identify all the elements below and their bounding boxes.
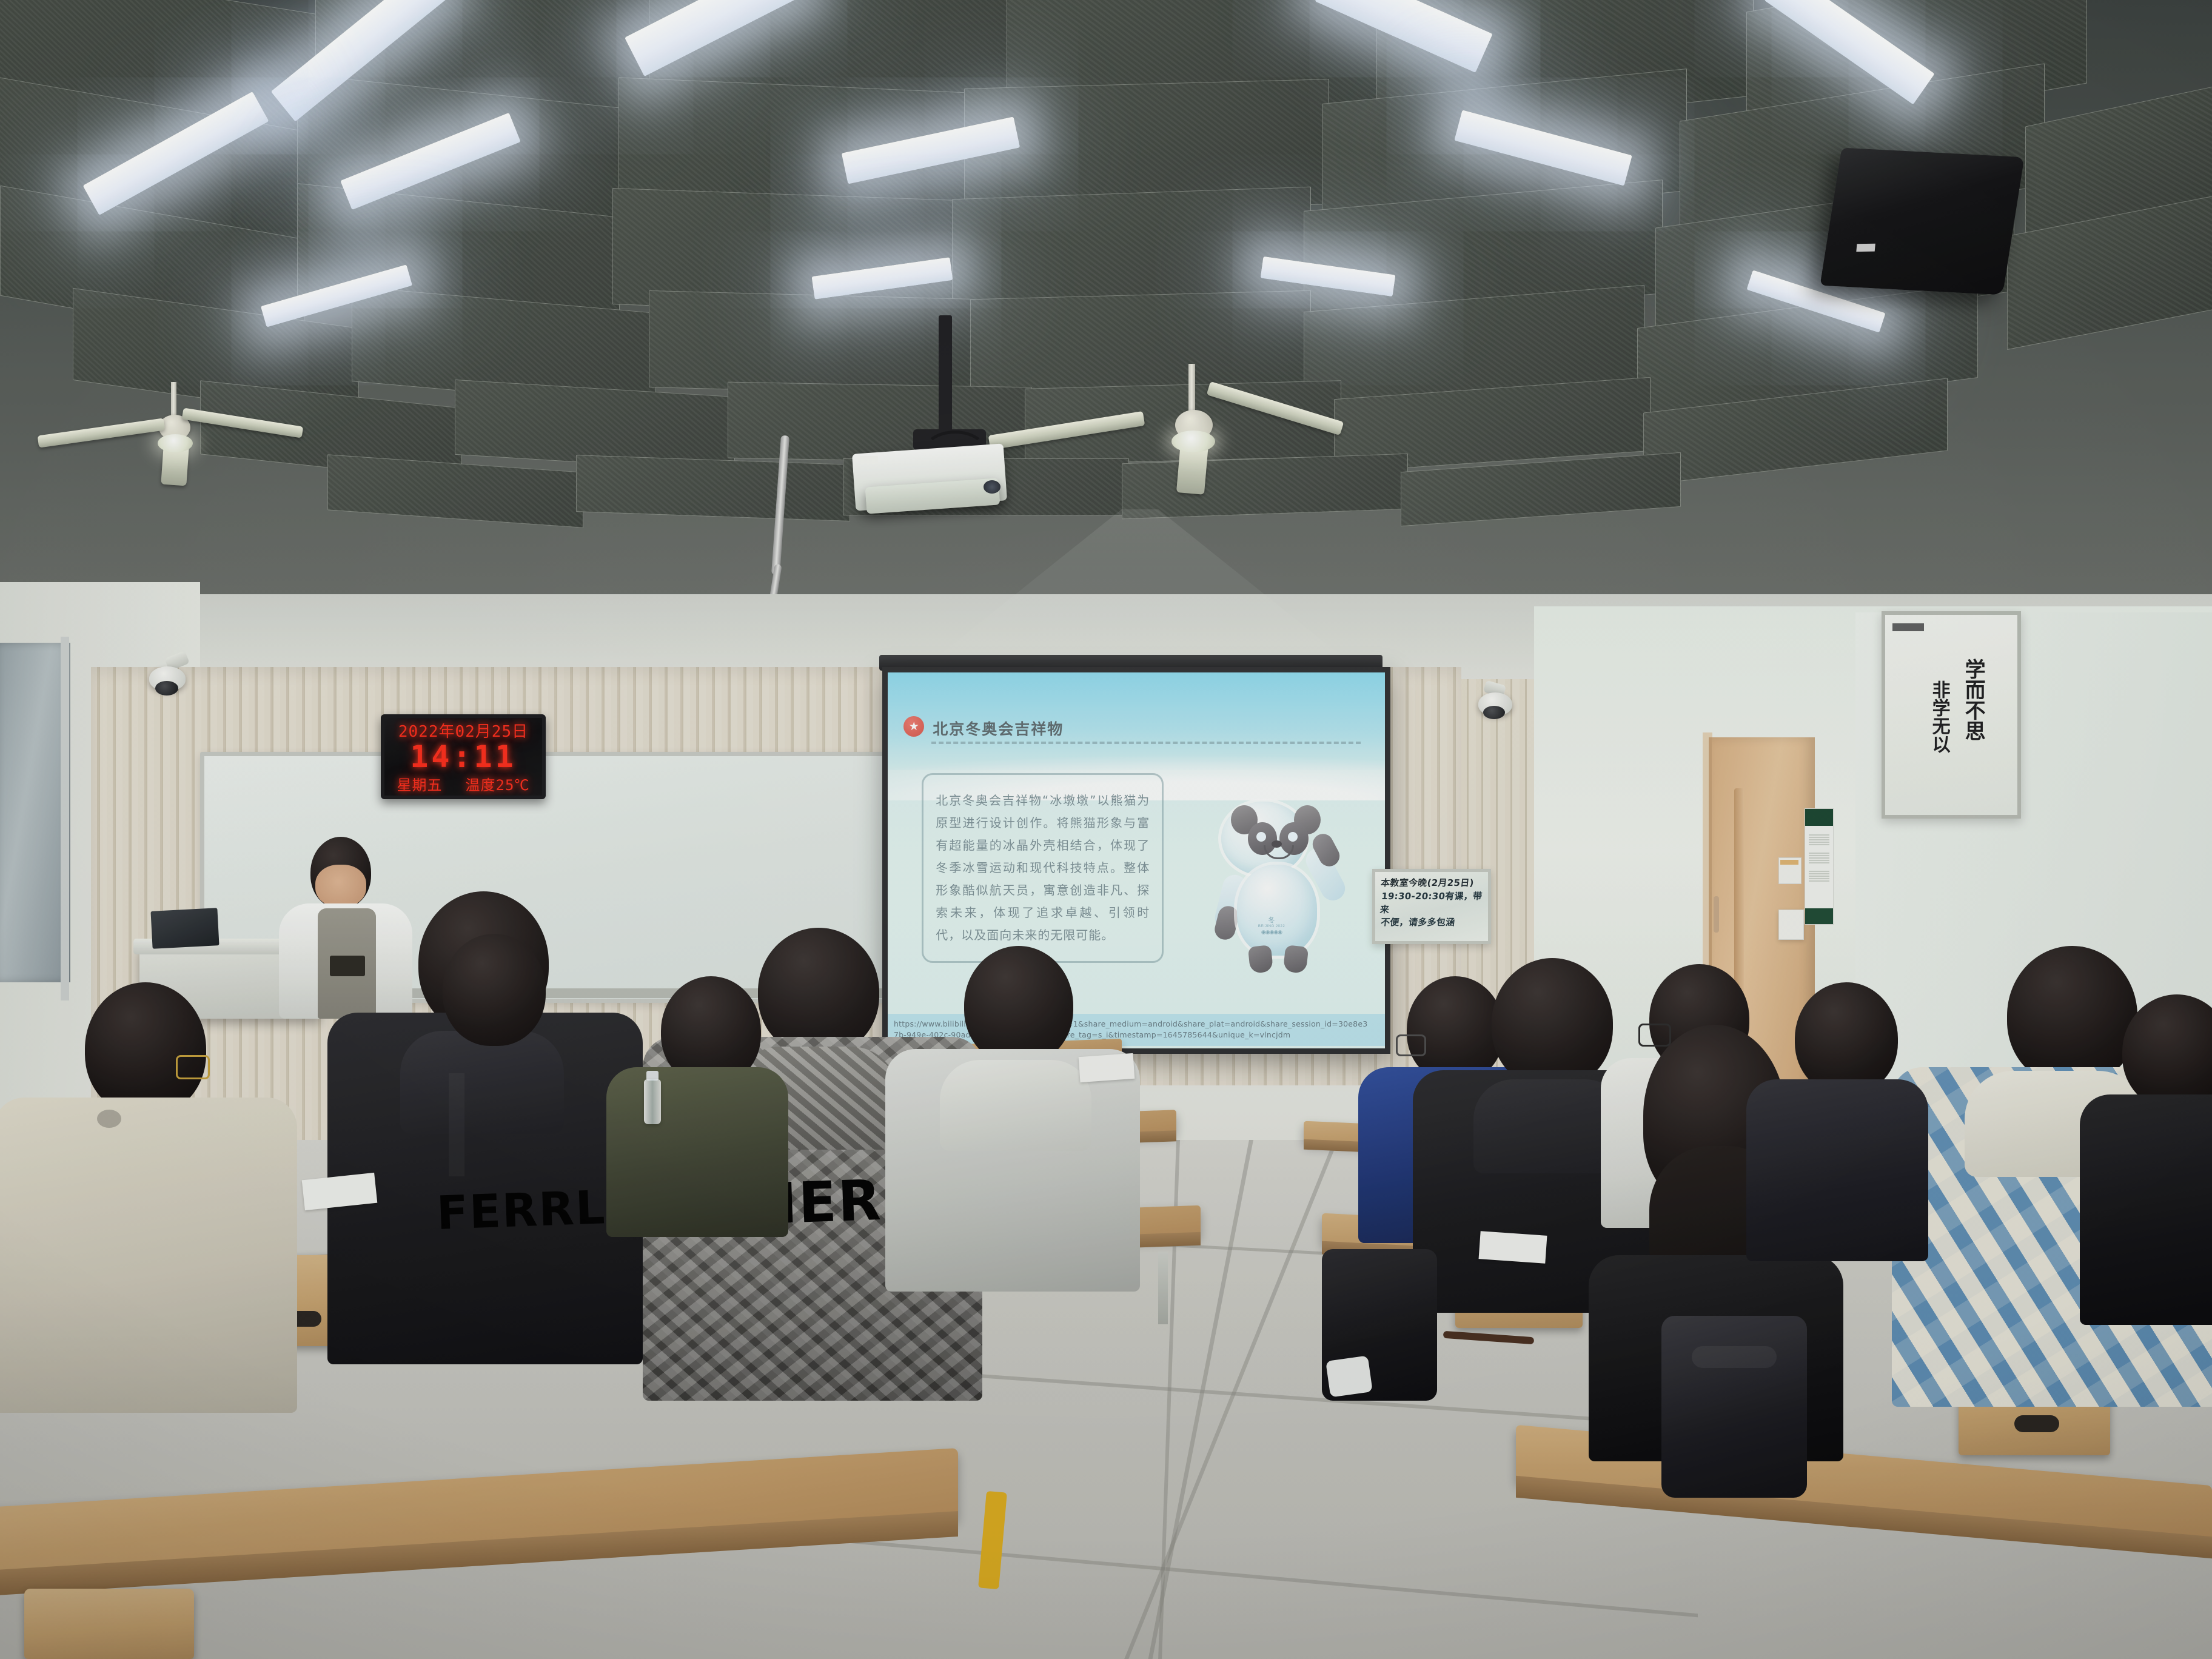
student: [2080, 994, 2212, 1310]
notice-line-1: 本教室今晚(2月25日): [1380, 877, 1483, 890]
wall-speaker: [1820, 148, 2024, 295]
lectern-monitor[interactable]: [150, 908, 219, 949]
backpack: [1661, 1316, 1807, 1498]
slide-divider: [931, 742, 1361, 744]
clock-temperature: 温度25℃: [466, 773, 530, 794]
paper-sheet: [1079, 1053, 1135, 1082]
mascot-logo-line2: BEIJING 2022: [1254, 925, 1289, 929]
dome-camera: [1472, 685, 1521, 734]
window-frame: [61, 637, 69, 1000]
wall-notice-card: [1778, 910, 1804, 940]
student: [12, 982, 279, 1407]
wall-notice-card: [1778, 857, 1801, 884]
dome-camera: [146, 658, 194, 706]
mascot-logo: 冬 BEIJING 2022 ◉◉◉◉◉: [1254, 917, 1289, 935]
notice-line-3: 不便，请多多包涵: [1380, 916, 1483, 930]
clock-weekday: 星期五: [397, 773, 443, 794]
led-clock-display: 2022年02月25日 14:11 星期五 温度25℃: [381, 714, 546, 799]
student: [1746, 982, 1928, 1237]
sign-footer: [1805, 908, 1833, 924]
calligraphy-seal: [1892, 623, 1924, 631]
paper-sheet: [1479, 1231, 1547, 1264]
notice-line-2: 19:30-20:30有课，带来: [1379, 890, 1484, 917]
ceiling-fan: [1067, 364, 1322, 497]
student: [600, 976, 794, 1231]
clock-time: 14:11: [410, 743, 517, 772]
ceiling-projector: [788, 424, 1055, 582]
door-handle[interactable]: [1714, 896, 1719, 933]
star-icon: ★: [903, 716, 924, 737]
classroom-photo: 2022年02月25日 14:11 星期五 温度25℃ ★ 北京冬奥会吉祥物 北…: [0, 0, 2212, 1659]
notice-board: 本教室今晚(2月25日) 19:30-20:30有课，带来 不便，请多多包涵: [1372, 869, 1491, 944]
window: [0, 643, 70, 982]
fire-exit-sign: [1805, 808, 1834, 925]
mascot-bing-dwen-dwen: 冬 BEIJING 2022 ◉◉◉◉◉: [1221, 802, 1336, 984]
ceiling-tile: [649, 290, 977, 396]
slide-body-text: 北京冬奥会吉祥物“冰墩墩”以熊猫为原型进行设计创作。将熊猫形象与富有超能量的冰晶…: [936, 789, 1150, 947]
calligraphy-column-1: 学而不思: [1962, 659, 1985, 741]
calligraphy-column-2: 非学无以: [1929, 680, 1949, 753]
olympic-rings-icon: ◉◉◉◉◉: [1254, 929, 1289, 935]
calligraphy-frame: 学而不思 非学无以: [1882, 611, 2021, 819]
ceiling-fan: [91, 382, 297, 497]
mascot-logo-line1: 冬: [1254, 917, 1289, 925]
chair[interactable]: [24, 1589, 194, 1659]
student: [885, 946, 1140, 1285]
slide-title: 北京冬奥会吉祥物: [933, 717, 1064, 739]
clock-date: 2022年02月25日: [398, 719, 528, 742]
face-mask: [1326, 1355, 1373, 1397]
student: [376, 934, 570, 1249]
water-bottle: [644, 1079, 661, 1124]
desk: [1516, 1455, 2212, 1659]
glasses: [176, 1055, 210, 1079]
exit-icon: [1805, 809, 1833, 826]
